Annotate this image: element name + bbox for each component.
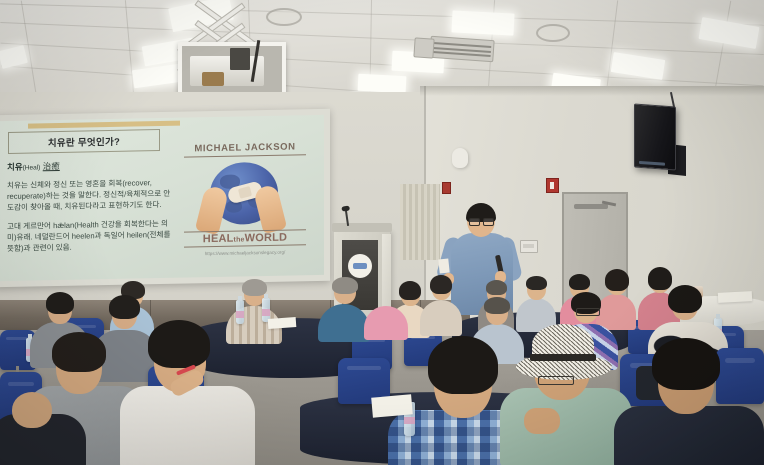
ceiling-air-vent-side [413,37,434,58]
projection-screen: 치유란 무엇인가? 치유(Heal) 治癒 치유는 신체와 정신 또는 영혼을 … [0,109,330,287]
ceiling-projector-lift [168,0,288,100]
hand-right [253,184,287,235]
album-title-world: WORLD [245,232,288,245]
hat-band [530,354,596,361]
album-artist-name: MICHAEL JACKSON [184,141,306,157]
slide-title-box: 치유란 무엇인가? [8,129,160,154]
wall-mounted-speaker [634,104,676,171]
door-closer-arm [574,204,608,209]
lectern-top [332,223,392,232]
lectern-emblem [348,254,372,278]
slide-surface: 치유란 무엇인가? 치유(Heal) 治癒 치유는 신체와 정신 또는 영혼을 … [0,115,324,281]
attendee-left-edge [0,392,86,465]
eyeglasses-icon [538,376,574,385]
album-art: MICHAEL JACKSON HEALtheWORLD https://www… [184,141,306,261]
scissor-lift-arms [198,0,266,46]
ceiling-light-panel [451,10,514,35]
album-title-heal: HEAL [203,233,234,246]
handout-paper [268,317,297,329]
handout-paper [371,394,413,417]
presenter-paper [438,259,449,274]
attendee-hand [524,408,560,434]
ceiling-dome-fixture [536,24,570,42]
ceiling-light-panel [699,17,760,49]
water-bottle [236,300,244,324]
attendee-back [430,276,464,328]
album-title-text: HEALtheWORLD [184,229,306,247]
slide-heading-hanja: 治癒 [43,161,60,171]
slide-heading-paren: (Heal) [23,164,41,171]
attendee-back [364,286,408,338]
attendee-white-polo [120,330,255,465]
fire-alarm-pull-station-secondary[interactable] [442,182,451,194]
ceiling-air-vent [429,36,494,62]
attendee-navy-shirt [614,348,764,465]
eyeglasses-icon [576,308,600,316]
album-source-url: https://www.michaeljacksonslegacy.org/ [184,249,306,256]
ceiling-wall-shadow [420,86,764,96]
projector-lens-icon [202,72,224,86]
fire-alarm-pull-station[interactable] [546,178,559,193]
attendee-back [318,280,370,338]
ceiling-light-panel [358,74,407,93]
slide-paragraph-1: 치유는 신체와 정신 또는 영혼을 회복(recover, recuperate… [7,177,172,213]
ceiling-light-panel [611,52,665,80]
ceiling-light-panel [0,45,28,69]
eyeglasses-icon [469,218,493,224]
hand-left [195,185,229,235]
slide-paragraph-2: 고대 게르만어 hǣlan(Health 건강을 회복한다는 의미)유래. 네덜… [7,218,172,254]
slide-heading-korean: 치유 [7,162,23,172]
slide-title: 치유란 무엇인가? [48,134,120,149]
album-title-the: the [234,236,245,243]
projector-mount-block [230,48,250,70]
window-curtain [400,184,440,260]
slide-heading: 치유(Heal) 治癒 [7,158,172,173]
slide-accent-bar [28,121,180,129]
ceiling-tile-line [0,3,764,25]
slide-body: 치유(Heal) 治癒 치유는 신체와 정신 또는 영혼을 회복(recover… [7,158,172,262]
attendee-fedora-hat [500,324,632,465]
wall-mounted-sensor-icon [452,148,468,168]
seminar-room-photo: 치유란 무엇인가? 치유(Heal) 治癒 치유는 신체와 정신 또는 영혼을 … [0,0,764,465]
